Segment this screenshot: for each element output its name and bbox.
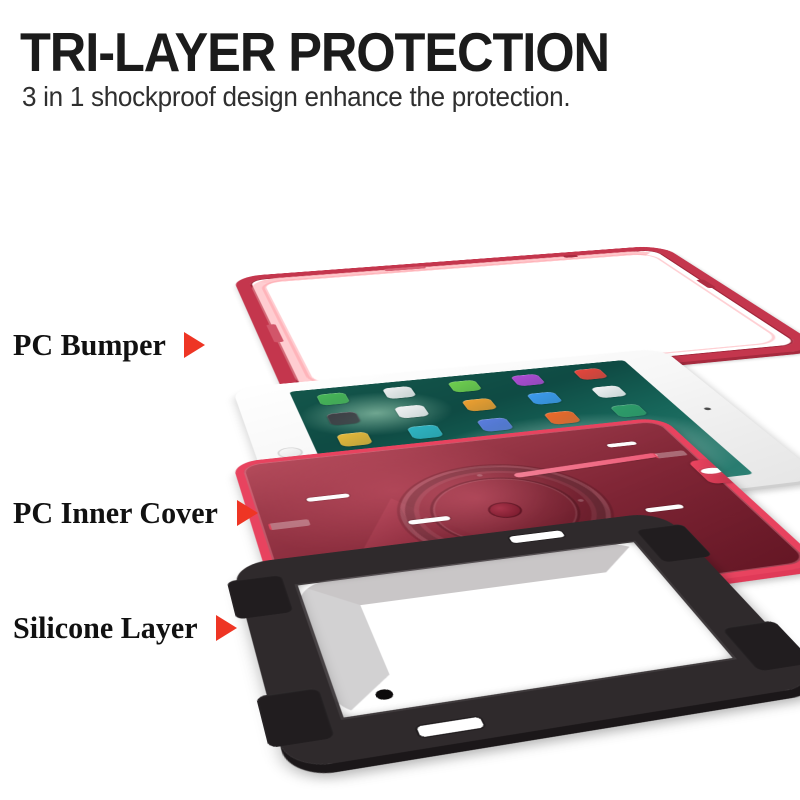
callout-pc-inner-cover[interactable]: PC Inner Cover <box>13 497 258 529</box>
product-layer-silicone <box>255 440 755 800</box>
callout-label: PC Inner Cover <box>13 497 218 529</box>
callout-label: PC Bumper <box>13 329 166 361</box>
callout-label: Silicone Layer <box>13 612 198 644</box>
silicone-highlight <box>294 541 737 720</box>
port-cutout <box>508 530 565 543</box>
infographic-canvas: TRI-LAYER PROTECTION 3 in 1 shockproof d… <box>0 0 800 800</box>
corner-bumper <box>635 524 713 563</box>
exploded-product-illustration <box>0 0 800 800</box>
triangle-right-icon <box>184 332 205 358</box>
triangle-right-icon <box>237 500 258 526</box>
triangle-right-icon <box>216 615 237 641</box>
callout-pc-bumper[interactable]: PC Bumper <box>13 329 205 361</box>
callout-silicone-layer[interactable]: Silicone Layer <box>13 612 237 644</box>
